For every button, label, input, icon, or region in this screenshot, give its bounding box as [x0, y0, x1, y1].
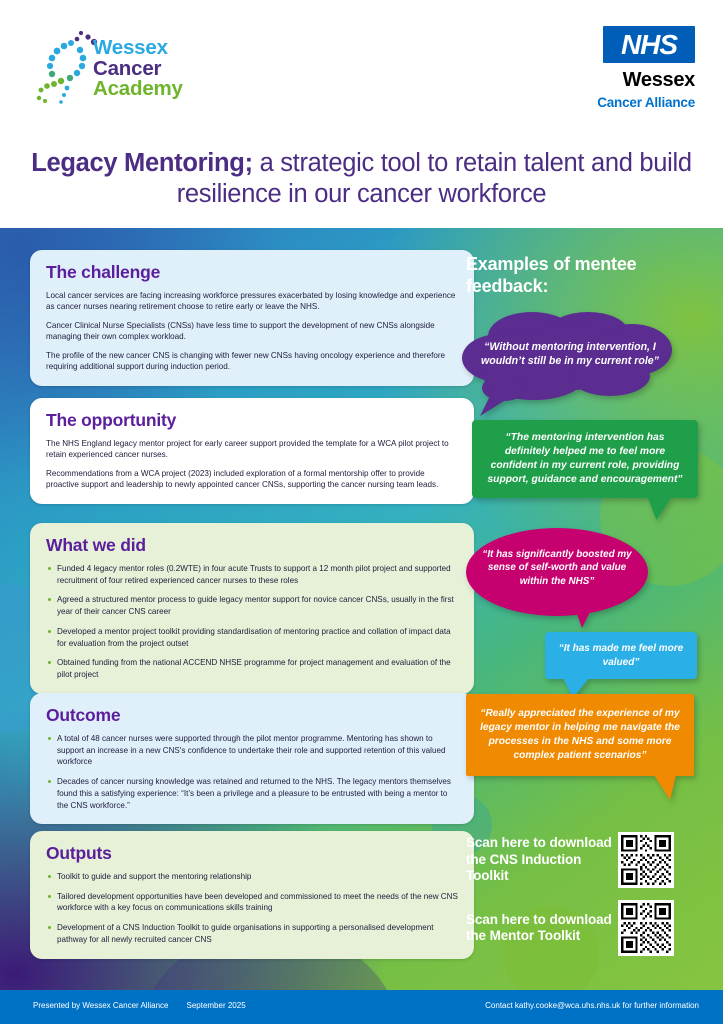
nhs-alliance-label: Cancer Alliance	[587, 95, 695, 110]
list-item: Tailored development opportunities have …	[46, 891, 458, 914]
qr-label: Scan here to download the CNS Induction …	[466, 835, 618, 884]
card-heading: The challenge	[46, 262, 458, 283]
card-bullet-list: A total of 48 cancer nurses were support…	[46, 733, 458, 811]
list-item: A total of 48 cancer nurses were support…	[46, 733, 458, 768]
mentee-feedback-heading: Examples of mentee feedback:	[466, 254, 696, 297]
card-paragraph: Recommendations from a WCA project (2023…	[46, 468, 458, 491]
poster-header: Wessex Cancer Academy NHS Wessex Cancer …	[0, 0, 723, 228]
academy-word-line2: Cancer	[93, 59, 183, 80]
list-item: Development of a CNS Induction Toolkit t…	[46, 922, 458, 945]
list-item: Obtained funding from the national ACCEN…	[46, 657, 458, 680]
section-card-opportunity: The opportunity The NHS England legacy m…	[30, 398, 474, 504]
list-item: Funded 4 legacy mentor roles (0.2WTE) in…	[46, 563, 458, 586]
nhs-wordmark: NHS	[603, 26, 695, 63]
quote-text: “It has significantly boosted my sense o…	[480, 548, 634, 588]
list-item: Toolkit to guide and support the mentori…	[46, 871, 458, 883]
quote-bubble-pink: “It has significantly boosted my sense o…	[466, 528, 648, 616]
card-paragraph: The profile of the new cancer CNS is cha…	[46, 350, 458, 373]
academy-word-line1: Wessex	[93, 38, 183, 59]
card-heading: Outcome	[46, 705, 458, 726]
list-item: Agreed a structured mentor process to gu…	[46, 594, 458, 617]
card-paragraph: Local cancer services are facing increas…	[46, 290, 458, 313]
page-title-bold: Legacy Mentoring;	[31, 149, 253, 177]
card-heading: Outputs	[46, 843, 458, 864]
section-card-outcome: Outcome A total of 48 cancer nurses were…	[30, 693, 474, 824]
quote-bubble-orange: “Really appreciated the experience of my…	[466, 694, 694, 776]
qr-row-cns-induction-toolkit[interactable]: Scan here to download the CNS Induction …	[466, 832, 698, 888]
list-item: Decades of cancer nursing knowledge was …	[46, 776, 458, 811]
qr-code-pattern	[621, 903, 671, 953]
footer-presented-by: Presented by Wessex Cancer Alliance	[33, 1001, 168, 1010]
card-heading: The opportunity	[46, 410, 458, 431]
qr-code-icon[interactable]	[618, 900, 674, 956]
nhs-wessex-cancer-alliance-logo: NHS Wessex Cancer Alliance	[587, 26, 695, 110]
poster: Wessex Cancer Academy NHS Wessex Cancer …	[0, 0, 723, 1024]
footer-contact: Contact kathy.cooke@wca.uhs.nhs.uk for f…	[485, 1001, 699, 1010]
quote-text: “Really appreciated the experience of my…	[466, 694, 694, 776]
academy-word-line3: Academy	[93, 79, 183, 100]
nhs-region-label: Wessex	[587, 69, 695, 92]
card-paragraph: Cancer Clinical Nurse Specialists (CNSs)…	[46, 320, 458, 343]
page-title: Legacy Mentoring; a strategic tool to re…	[28, 148, 695, 210]
academy-wordmark: Wessex Cancer Academy	[93, 38, 183, 100]
quote-text: “Without mentoring intervention, I would…	[476, 340, 664, 368]
card-bullet-list: Toolkit to guide and support the mentori…	[46, 871, 458, 946]
qr-label: Scan here to download the Mentor Toolkit	[466, 912, 618, 945]
quote-bubble-cloud: “Without mentoring intervention, I would…	[460, 310, 680, 416]
card-bullet-list: Funded 4 legacy mentor roles (0.2WTE) in…	[46, 563, 458, 681]
wessex-cancer-academy-logo: Wessex Cancer Academy	[36, 28, 206, 112]
list-item: Developed a mentor project toolkit provi…	[46, 626, 458, 649]
quote-text: “It has made me feel more valued”	[545, 632, 697, 679]
bubble-tail	[644, 497, 671, 520]
footer-date: September 2025	[186, 1001, 245, 1010]
quote-bubble-blue: “It has made me feel more valued”	[545, 632, 697, 679]
quote-bubble-green: “The mentoring intervention has definite…	[472, 420, 698, 498]
section-card-challenge: The challenge Local cancer services are …	[30, 250, 474, 386]
section-card-outputs: Outputs Toolkit to guide and support the…	[30, 831, 474, 959]
qr-row-mentor-toolkit[interactable]: Scan here to download the Mentor Toolkit	[466, 900, 698, 956]
poster-footer: Presented by Wessex Cancer AllianceSepte…	[0, 990, 723, 1024]
footer-left: Presented by Wessex Cancer AllianceSepte…	[33, 1001, 246, 1010]
bubble-tail	[654, 775, 676, 800]
section-card-what-we-did: What we did Funded 4 legacy mentor roles…	[30, 523, 474, 694]
qr-code-icon[interactable]	[618, 832, 674, 888]
page-title-rest: a strategic tool to retain talent and bu…	[177, 149, 692, 208]
card-paragraph: The NHS England legacy mentor project fo…	[46, 438, 458, 461]
qr-code-pattern	[621, 835, 671, 885]
quote-text: “The mentoring intervention has definite…	[472, 420, 698, 498]
card-heading: What we did	[46, 535, 458, 556]
